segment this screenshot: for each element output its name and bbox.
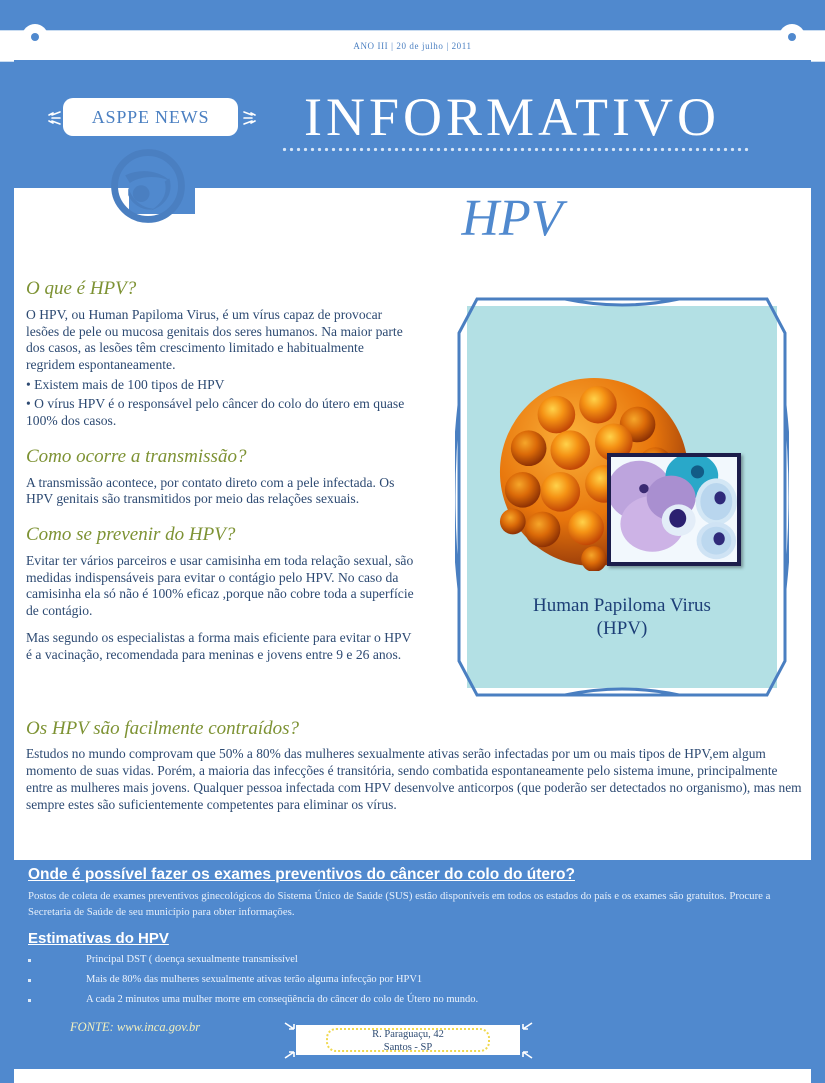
address-corner-arrow-br-icon <box>521 1047 533 1059</box>
section-heading-what-is-hpv: O que é HPV? <box>26 278 416 300</box>
bullet-line: • O vírus HPV é o responsável pelo cânce… <box>26 396 416 429</box>
starburst-left-icon <box>46 110 62 126</box>
list-item: A cada 2 minutos uma mulher morre em con… <box>28 992 800 1008</box>
list-item: Principal DST ( doença sexualmente trans… <box>28 952 800 968</box>
paragraph: Estudos no mundo comprovam que 50% a 80%… <box>26 746 806 814</box>
address-corner-arrow-tl-icon <box>284 1022 296 1034</box>
footer-bullet-list: Principal DST ( doença sexualmente trans… <box>28 952 800 1007</box>
left-blue-edge <box>0 0 14 1083</box>
section-heading-transmission: Como ocorre a transmissão? <box>26 446 416 468</box>
address-line-1: R. Paraguaçu, 42 <box>372 1029 444 1040</box>
asppe-circle-logo-icon <box>110 148 186 224</box>
paragraph: O HPV, ou Human Papiloma Virus, é um vír… <box>26 307 416 374</box>
top-blue-edge <box>0 0 825 30</box>
wide-article-section: Os HPV são facilmente contraídos? Estudo… <box>26 718 806 816</box>
issue-date-text: ANO III | 20 de julho | 2011 <box>353 41 471 51</box>
address-corner-arrow-bl-icon <box>284 1047 296 1059</box>
caption-line-2: (HPV) <box>597 618 648 639</box>
image-panel: Human Papiloma Virus (HPV) <box>455 295 789 699</box>
grommet-top-left-icon <box>22 24 48 50</box>
right-blue-edge <box>811 0 825 1083</box>
title-dotted-rule <box>281 146 751 153</box>
address-corner-arrow-tr-icon <box>521 1022 533 1034</box>
page-title: INFORMATIVO <box>272 90 752 144</box>
footer-paragraph: Postos de coleta de exames preventivos g… <box>28 889 800 920</box>
page-subtitle: HPV <box>272 190 752 247</box>
section-heading-prevention: Como se prevenir do HPV? <box>26 524 416 546</box>
source-credit: FONTE: www.inca.gov.br <box>70 1020 200 1035</box>
grommet-hole <box>31 33 39 41</box>
grommet-hole <box>788 33 796 41</box>
address-line-2: Santos - SP <box>384 1042 432 1053</box>
cervical-cytology-micrograph <box>607 453 741 566</box>
caption-line-1: Human Papiloma Virus <box>533 595 711 616</box>
brand-name: ASPPE NEWS <box>92 107 210 128</box>
address-box: R. Paraguaçu, 42 Santos - SP <box>296 1025 520 1055</box>
list-item: Mais de 80% das mulheres sexualmente ati… <box>28 972 800 988</box>
section-heading-contagion: Os HPV são facilmente contraídos? <box>26 718 806 740</box>
footer-heading-estimates: Estimativas do HPV <box>28 930 800 947</box>
newsletter-page: ANO III | 20 de julho | 2011 ASPPE NEWS … <box>0 0 825 1083</box>
article-column: O que é HPV? O HPV, ou Human Papiloma Vi… <box>26 278 416 666</box>
footer-heading-where-to-test: Onde é possível fazer os exames preventi… <box>28 866 800 884</box>
date-ribbon: ANO III | 20 de julho | 2011 <box>0 30 825 62</box>
bullet-line: • Existem mais de 100 tipos de HPV <box>26 377 416 394</box>
footer-content: Onde é possível fazer os exames preventi… <box>28 866 800 1012</box>
paragraph: Evitar ter vários parceiros e usar camis… <box>26 553 416 620</box>
address-text: R. Paraguaçu, 42 Santos - SP <box>296 1028 520 1054</box>
paragraph: A transmissão acontece, por contato dire… <box>26 475 416 508</box>
image-caption: Human Papiloma Virus (HPV) <box>467 595 777 641</box>
grommet-top-right-icon <box>779 24 805 50</box>
paragraph: Mas segundo os especialistas a forma mai… <box>26 630 416 663</box>
brand-plate: ASPPE NEWS <box>63 98 238 136</box>
starburst-right-icon <box>242 110 258 126</box>
